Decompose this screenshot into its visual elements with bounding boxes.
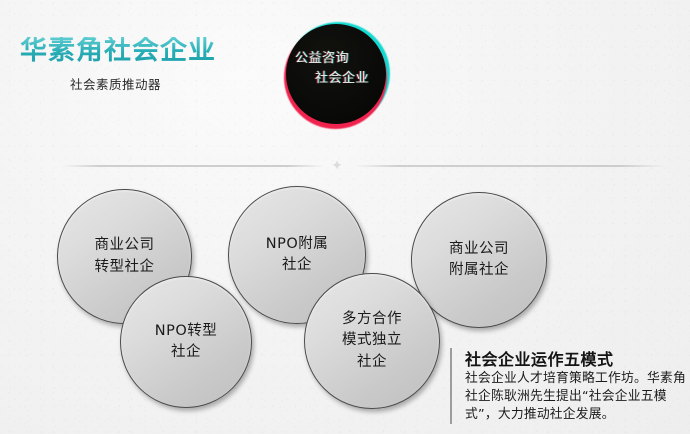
caption-rule: [450, 348, 452, 424]
page-subtitle: 社会素质推动器: [70, 74, 161, 93]
slide-canvas: 华素角社会企业 社会素质推动器 公益咨询 社会企业 ✦ 商业公司 转型社企 NP…: [0, 0, 690, 434]
badge-line-1: 公益咨询: [295, 51, 349, 67]
badge-text: 公益咨询 社会企业: [284, 22, 390, 128]
section-divider: ✦: [62, 164, 665, 167]
bubble-npo-transform[interactable]: NPO转型 社企: [120, 276, 252, 408]
star-ornament-icon: ✦: [330, 159, 344, 173]
divider-line-left: [62, 165, 324, 167]
caption-body: 社会企业人才培育策略工作坊。华素角社企陈耿洲先生提出“社会企业五模式”，大力推动…: [465, 370, 689, 424]
divider-line-right: [354, 165, 665, 167]
bubble-multiparty-independent[interactable]: 多方合作 模式独立 社企: [304, 273, 440, 409]
page-title: 华素角社会企业: [20, 37, 216, 64]
caption-block: 社会企业运作五模式 社会企业人才培育策略工作坊。华素角社企陈耿洲先生提出“社会企…: [450, 346, 688, 428]
logo-badge: 公益咨询 社会企业: [284, 22, 390, 128]
badge-line-2: 社会企业: [315, 71, 369, 87]
caption-title: 社会企业运作五模式: [465, 346, 614, 370]
